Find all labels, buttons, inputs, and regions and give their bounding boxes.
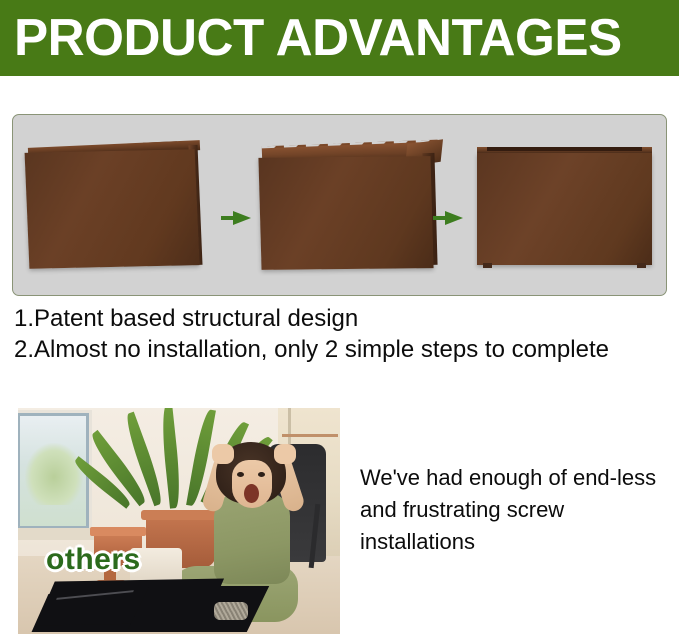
planter-front-face xyxy=(258,156,433,270)
arrow-right-icon xyxy=(221,211,251,225)
outdoor-foliage xyxy=(25,443,83,505)
person-eye-left xyxy=(237,472,244,477)
pain-point-caption: We've had enough of end-less and frustra… xyxy=(360,462,660,558)
planter-inner-cavity xyxy=(487,147,642,151)
planter-foot-left xyxy=(483,263,492,268)
header-banner: PRODUCT ADVANTAGES xyxy=(0,0,679,76)
assembly-steps-panel xyxy=(12,114,667,296)
planter-front-face xyxy=(477,153,652,265)
feature-list: 1.Patent based structural design 2.Almos… xyxy=(14,303,674,365)
others-badge: others xyxy=(46,543,141,577)
person-hand-left xyxy=(212,444,234,464)
page-title: PRODUCT ADVANTAGES xyxy=(14,6,622,70)
planter-stage-partially-unfolded xyxy=(256,137,446,275)
planter-stage-assembled xyxy=(471,137,661,277)
person-hand-right xyxy=(274,444,296,464)
feature-item: 2.Almost no installation, only 2 simple … xyxy=(14,334,674,365)
arrow-right-icon xyxy=(433,211,463,225)
planter-stage-flat-folded xyxy=(25,139,210,274)
feature-item: 1.Patent based structural design xyxy=(14,303,674,334)
loose-screws-pile xyxy=(214,602,248,620)
balcony-rail xyxy=(282,434,338,437)
planter-front-face xyxy=(25,149,200,268)
comparison-photo xyxy=(18,408,340,634)
person-eye-right xyxy=(258,472,265,477)
person-open-mouth xyxy=(244,484,259,503)
planter-foot-right xyxy=(637,263,646,268)
arrow-head xyxy=(445,211,463,225)
arrow-head xyxy=(233,211,251,225)
